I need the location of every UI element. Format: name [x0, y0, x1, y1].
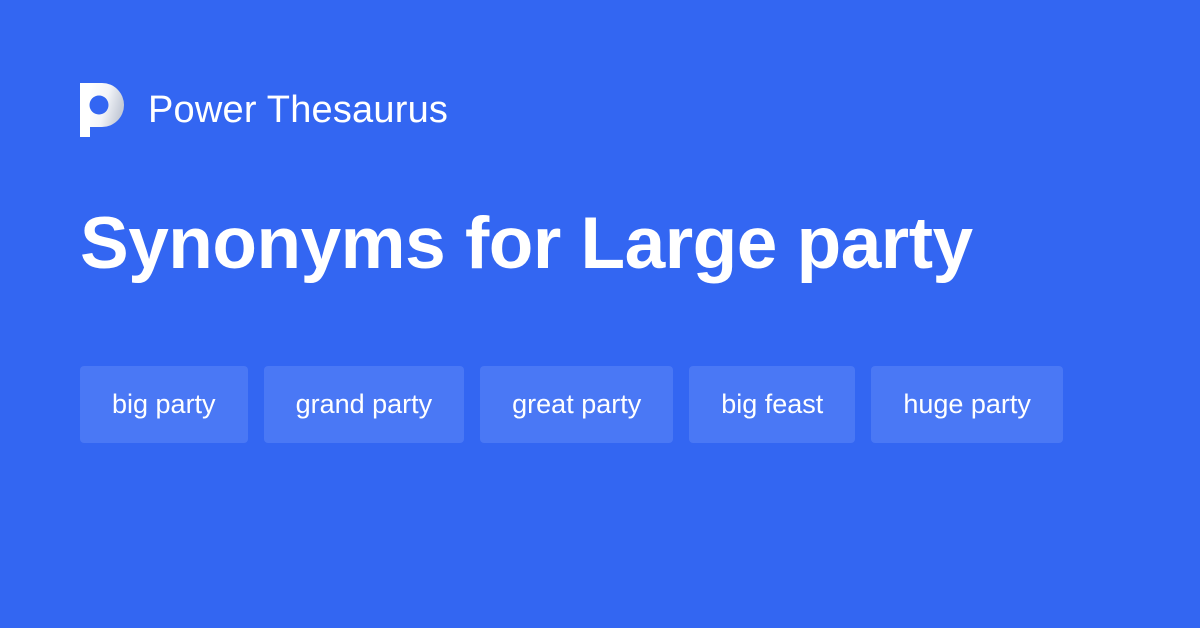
- brand-name: Power Thesaurus: [148, 91, 448, 129]
- synonym-chip[interactable]: grand party: [264, 366, 465, 443]
- page-title: Synonyms for Large party: [80, 196, 973, 292]
- social-share-card: Power Thesaurus Synonyms for Large party…: [0, 0, 1200, 628]
- power-thesaurus-logo-icon: [80, 83, 124, 137]
- brand-header[interactable]: Power Thesaurus: [80, 82, 448, 138]
- synonym-chip-list: big party grand party great party big fe…: [80, 366, 1120, 443]
- synonym-chip[interactable]: huge party: [871, 366, 1063, 443]
- synonym-chip[interactable]: big party: [80, 366, 248, 443]
- synonym-chip[interactable]: big feast: [689, 366, 855, 443]
- synonym-chip[interactable]: great party: [480, 366, 673, 443]
